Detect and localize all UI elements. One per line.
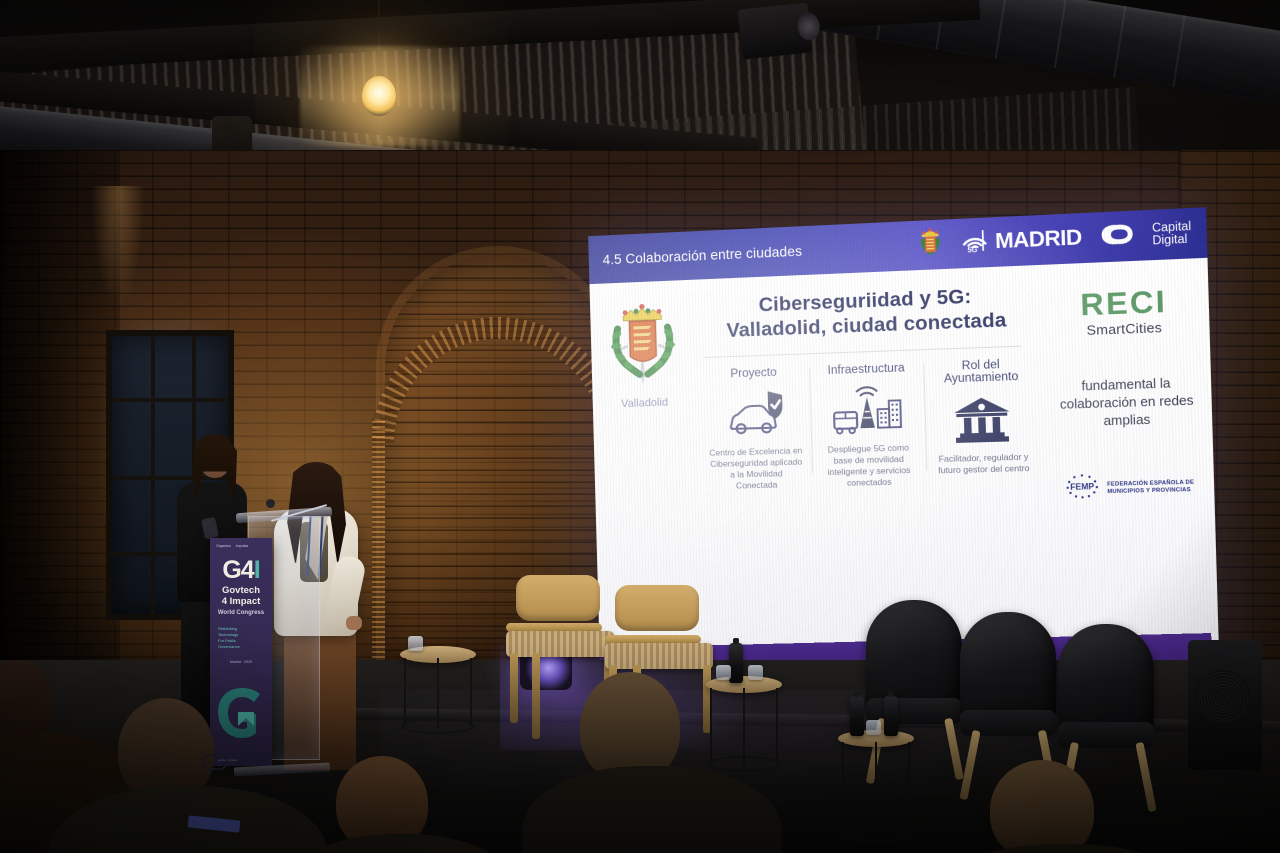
slide-main-column: Ciberseguriidad y 5G: Valladolid, ciudad… <box>693 265 1056 660</box>
g4i-letter-g: G <box>222 556 240 584</box>
pendant-lamp-cord <box>378 0 380 82</box>
slide-cards: Proyecto Centro de Excelenc <box>698 357 1042 492</box>
card-text: Centro de Excelencia en Ciberseguridad a… <box>705 445 808 492</box>
podium-date: Madrid · 2025 <box>210 660 272 665</box>
water-bottle-right-1 <box>850 696 864 736</box>
podium-microphone <box>270 490 328 520</box>
water-bottle-center <box>729 643 743 683</box>
collaboration-note: fundamental la colaboración en redes amp… <box>1052 374 1201 432</box>
government-building-icon <box>929 391 1036 448</box>
podium-bullets: Rethinking Technology For Public Governa… <box>218 626 272 650</box>
drinking-glass-center-right <box>748 665 763 680</box>
slide-card-proyecto: Proyecto Centro de Excelenc <box>698 365 813 492</box>
slide-title: Ciberseguriidad y 5G: Valladolid, ciudad… <box>696 282 1038 344</box>
femp-full-name: FEDERACIÓN ESPAÑOLA DE MUNICIPIOS Y PROV… <box>1107 479 1194 495</box>
capital-label-line2: Digital <box>1152 233 1192 248</box>
femp-line2: MUNICIPIOS Y PROVINCIAS <box>1107 486 1194 495</box>
femp-stars-icon: FEMP <box>1064 472 1102 505</box>
microphone-boom <box>271 504 327 522</box>
drinking-glass-right <box>866 720 881 735</box>
moving-head-light-icon <box>738 2 813 59</box>
valladolid-crest-icon <box>919 226 943 263</box>
podium-organiza-label: Organiza <box>216 544 231 549</box>
madrid-5g-logo: 5G MADRID <box>961 223 1082 258</box>
card-text: Facilitador, regulador y futuro gestor d… <box>931 451 1037 476</box>
conference-stage-scene: 4.5 Colaboración entre ciudades <box>0 0 1280 853</box>
podium-tagline-sub: World Congress <box>210 608 272 619</box>
speaker-hand <box>346 616 362 630</box>
microphone-head <box>266 499 275 508</box>
drinking-glass-far-left <box>408 636 423 651</box>
bus-antenna-buildings-icon <box>815 382 920 438</box>
reci-logo-text: RECI <box>1080 287 1167 322</box>
reci-logo-subtitle: SmartCities <box>1086 320 1162 338</box>
podium-impulsa-label: Impulsa <box>236 544 249 549</box>
podium-tagline-line1: Govtech <box>210 586 272 597</box>
pa-speaker-cabinet <box>1188 640 1262 770</box>
slide-card-rol-ayuntamiento: Rol del Ayuntamiento <box>923 357 1042 487</box>
lectern-podium: Organiza Impulsa G4I Govtech 4 Impact Wo… <box>210 516 320 766</box>
femp-acronym: FEMP <box>1070 482 1095 492</box>
g4i-logo: G4I <box>210 558 272 582</box>
water-bottle-right-2 <box>884 696 898 736</box>
crest-label: Valladolid <box>621 397 668 411</box>
title-divider <box>704 346 1022 358</box>
slide-card-infraestructura: Infraestructura <box>809 362 926 490</box>
podium-tagline-line2: 4 Impact <box>210 597 272 608</box>
pendant-lamp-bulb <box>362 76 396 116</box>
card-title: Infraestructura <box>814 362 918 378</box>
valladolid-coat-of-arms-icon <box>605 302 681 394</box>
slide-section-label: 4.5 Colaboración entre ciudades <box>602 243 802 267</box>
capital-digital-monogram-icon <box>1101 219 1145 253</box>
5g-signal-icon: 5G <box>961 227 989 258</box>
card-text: Despliegue 5G como base de movilidad int… <box>817 442 922 490</box>
wall-uplight-glow <box>92 186 144 306</box>
g4i-letter-i: I <box>254 556 260 584</box>
drinking-glass-center-left <box>716 665 731 680</box>
capital-digital-logo: Capital Digital <box>1101 217 1192 254</box>
femp-logo: FEMP FEDERACIÓN ESPAÑOLA DE MUNICIPIOS Y… <box>1064 470 1195 506</box>
audience-glasses-icon <box>202 754 228 770</box>
podium-tagline: Govtech 4 Impact World Congress <box>210 586 272 619</box>
svg-text:5G: 5G <box>968 246 978 253</box>
podium-banner: Organiza Impulsa G4I Govtech 4 Impact Wo… <box>210 538 272 766</box>
brick-arch-left-jamb <box>372 418 385 668</box>
capital-digital-text: Capital Digital <box>1152 220 1192 248</box>
g4i-number-4: 4 <box>241 556 254 584</box>
podium-banner-top-logos: Organiza Impulsa <box>210 538 272 549</box>
audience-head <box>990 760 1094 853</box>
madrid-logo-text: MADRID <box>995 226 1082 255</box>
card-title: Rol del Ayuntamiento <box>928 358 1034 386</box>
slide-header-logos: 5G MADRID <box>919 215 1192 264</box>
card-title: Proyecto <box>703 366 805 382</box>
slide-right-column: RECI SmartCities fundamental la colabora… <box>1045 258 1219 657</box>
car-shield-check-icon <box>704 386 807 442</box>
govtech-g-mark-icon <box>210 668 272 754</box>
